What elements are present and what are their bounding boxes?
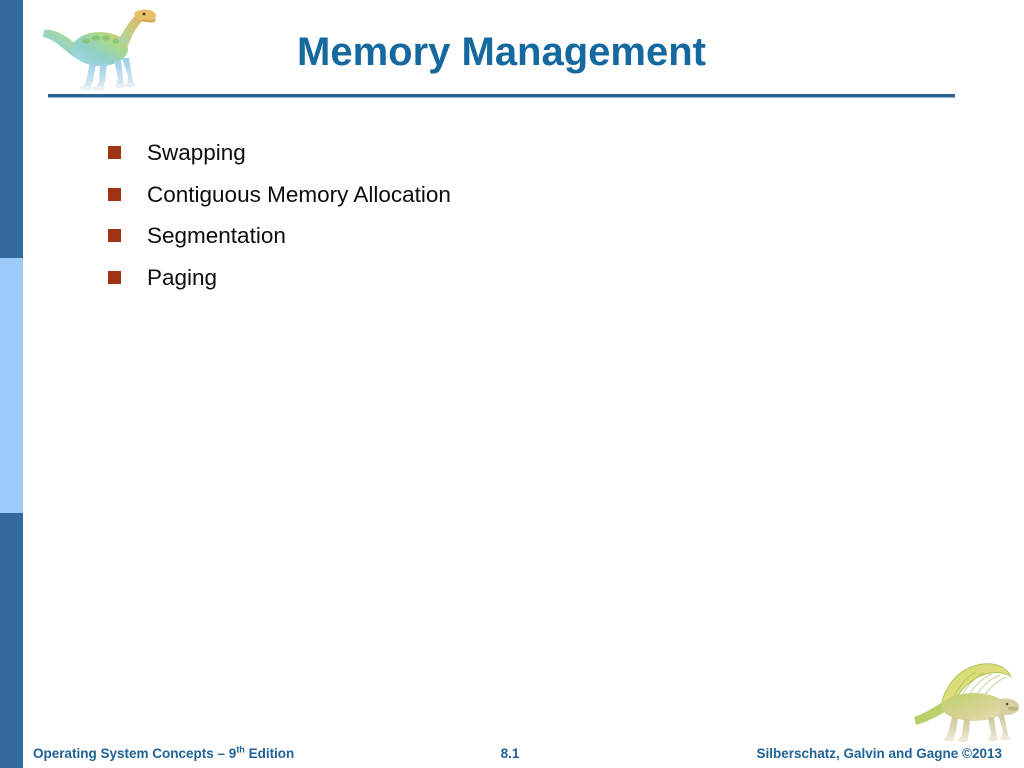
slide-title: Memory Management <box>48 28 955 76</box>
footer-book-suffix: Edition <box>245 746 295 761</box>
left-accent-sidebar <box>0 0 23 768</box>
list-item: Segmentation <box>108 221 928 263</box>
list-item: Swapping <box>108 138 928 180</box>
list-item: Contiguous Memory Allocation <box>108 180 928 222</box>
sidebar-band-light-middle <box>0 258 23 513</box>
bullet-label: Contiguous Memory Allocation <box>147 180 928 210</box>
bullet-label: Paging <box>147 263 928 293</box>
footer-book-title: Operating System Concepts – 9th Edition <box>33 746 294 761</box>
title-divider <box>48 94 955 98</box>
square-bullet-icon <box>108 146 121 159</box>
square-bullet-icon <box>108 271 121 284</box>
bullet-label: Swapping <box>147 138 928 168</box>
square-bullet-icon <box>108 229 121 242</box>
sidebar-band-dark-bottom <box>0 513 23 768</box>
bullet-label: Segmentation <box>147 221 928 251</box>
slide-canvas: Memory Management Swapping Contiguous Me… <box>0 0 1024 768</box>
footer-book-prefix: Operating System Concepts – 9 <box>33 746 236 761</box>
footer-copyright: Silberschatz, Galvin and Gagne ©2013 <box>756 746 1002 761</box>
square-bullet-icon <box>108 188 121 201</box>
footer-edition-superscript: th <box>236 745 245 755</box>
slide-page-number: 8.1 <box>460 746 560 761</box>
list-item: Paging <box>108 263 928 305</box>
dimetrodon-illustration-icon <box>912 655 1022 743</box>
sidebar-band-dark-top <box>0 0 23 258</box>
bullet-list: Swapping Contiguous Memory Allocation Se… <box>108 138 928 304</box>
